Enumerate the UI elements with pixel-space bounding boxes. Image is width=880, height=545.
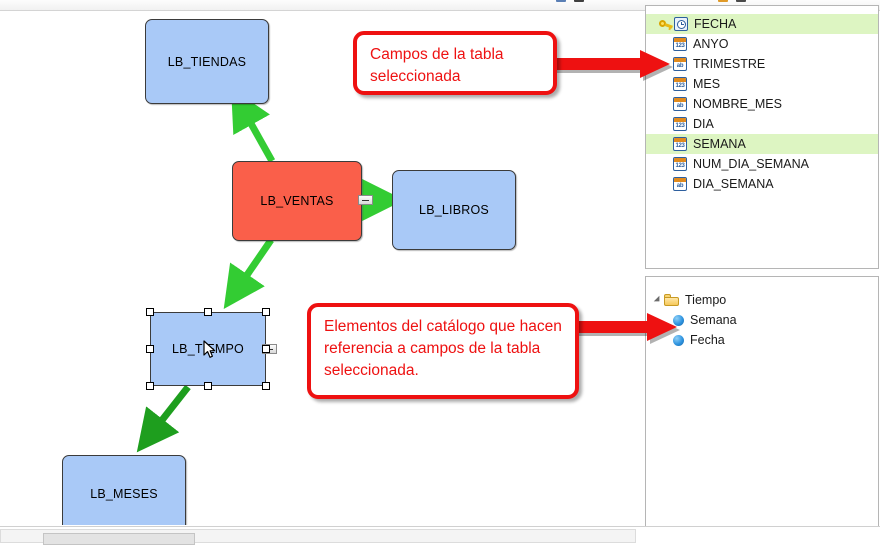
catalog-callout-arrow-icon <box>570 313 680 345</box>
numeric-icon: 123 <box>673 157 687 171</box>
catalog-callout-text: Elementos del catálogo que hacen referen… <box>324 318 562 379</box>
resize-handle-e[interactable] <box>262 345 270 353</box>
field-name: SEMANA <box>693 137 746 151</box>
tree-item-semana[interactable]: Semana <box>646 310 878 330</box>
field-name: DIA <box>693 117 714 131</box>
node-label: LB_VENTAS <box>260 194 333 208</box>
datatype-label: ab <box>674 102 686 110</box>
text-icon: ab <box>673 97 687 111</box>
datatype-label: 123 <box>674 142 686 150</box>
field-row-num-dia-semana[interactable]: 123 NUM_DIA_SEMANA <box>646 154 878 174</box>
field-name: MES <box>693 77 720 91</box>
tree-item-label: Tiempo <box>685 293 726 307</box>
field-row-anyo[interactable]: 123 ANYO <box>646 34 878 54</box>
field-row-dia[interactable]: 123 DIA <box>646 114 878 134</box>
node-label: LB_MESES <box>90 487 158 501</box>
node-lb-libros[interactable]: LB_LIBROS <box>392 170 516 250</box>
field-row-mes[interactable]: 123 MES <box>646 74 878 94</box>
resize-handle-ne[interactable] <box>262 308 270 316</box>
datatype-label: ab <box>674 62 686 70</box>
catalog-panel[interactable]: Tiempo Semana Fecha <box>645 276 879 530</box>
numeric-icon: 123 <box>673 117 687 131</box>
numeric-icon: 123 <box>673 37 687 51</box>
horizontal-scrollbar-thumb[interactable] <box>43 533 195 545</box>
field-row-nombre-mes[interactable]: ab NOMBRE_MES <box>646 94 878 114</box>
text-icon: ab <box>673 57 687 71</box>
numeric-icon: 123 <box>673 77 687 91</box>
catalog-callout: Elementos del catálogo que hacen referen… <box>307 303 579 399</box>
fields-panel[interactable]: FECHA 123 ANYO ab TRIMESTRE 123 MES <box>645 5 879 269</box>
field-name: DIA_SEMANA <box>693 177 774 191</box>
field-row-trimestre[interactable]: ab TRIMESTRE <box>646 54 878 74</box>
date-icon <box>674 17 688 31</box>
node-label: LB_TIENDAS <box>168 55 246 69</box>
field-name: FECHA <box>694 17 736 31</box>
datatype-label: 123 <box>674 122 686 130</box>
toolbar-icon[interactable] <box>556 0 566 2</box>
field-name: NOMBRE_MES <box>693 97 782 111</box>
toolbar-icon[interactable] <box>574 0 584 2</box>
text-icon: ab <box>673 177 687 191</box>
field-row-dia-semana[interactable]: ab DIA_SEMANA <box>646 174 878 194</box>
field-name: ANYO <box>693 37 728 51</box>
fields-callout-arrow-icon <box>548 50 673 82</box>
resize-handle-nw[interactable] <box>146 308 154 316</box>
field-row-fecha[interactable]: FECHA <box>646 14 878 34</box>
numeric-icon: 123 <box>673 137 687 151</box>
resize-handle-s[interactable] <box>204 382 212 390</box>
tree-item-tiempo[interactable]: Tiempo <box>646 290 878 310</box>
toolbar-icon[interactable] <box>736 0 746 2</box>
primary-key-icon <box>659 17 673 31</box>
bottom-bar <box>0 526 880 544</box>
node-lb-ventas[interactable]: LB_VENTAS <box>232 161 362 241</box>
tree-item-label: Fecha <box>690 333 725 347</box>
resize-handle-se[interactable] <box>262 382 270 390</box>
horizontal-scrollbar[interactable] <box>0 529 636 543</box>
datatype-label: 123 <box>674 162 686 170</box>
resize-handle-n[interactable] <box>204 308 212 316</box>
right-pane: FECHA 123 ANYO ab TRIMESTRE 123 MES <box>641 11 880 525</box>
field-name: TRIMESTRE <box>693 57 765 71</box>
folder-icon <box>664 294 679 307</box>
tree-item-label: Semana <box>690 313 737 327</box>
expand-triangle-icon[interactable] <box>652 296 664 304</box>
resize-handle-sw[interactable] <box>146 382 154 390</box>
datatype-label: 123 <box>674 82 686 90</box>
toolbar-icon[interactable] <box>718 0 728 2</box>
fields-callout: Campos de la tabla seleccionada <box>353 31 557 95</box>
datatype-label: 123 <box>674 42 686 50</box>
node-label: LB_LIBROS <box>419 203 489 217</box>
field-name: NUM_DIA_SEMANA <box>693 157 809 171</box>
lb-ventas-collapse-stub[interactable] <box>358 195 373 205</box>
fields-callout-text: Campos de la tabla seleccionada <box>370 46 504 85</box>
node-lb-tiendas[interactable]: LB_TIENDAS <box>145 19 269 104</box>
datatype-label: ab <box>674 182 686 190</box>
mouse-cursor-icon <box>203 340 216 359</box>
node-lb-meses[interactable]: LB_MESES <box>62 455 186 525</box>
field-row-semana[interactable]: 123 SEMANA <box>646 134 878 154</box>
tree-item-fecha[interactable]: Fecha <box>646 330 878 350</box>
resize-handle-w[interactable] <box>146 345 154 353</box>
